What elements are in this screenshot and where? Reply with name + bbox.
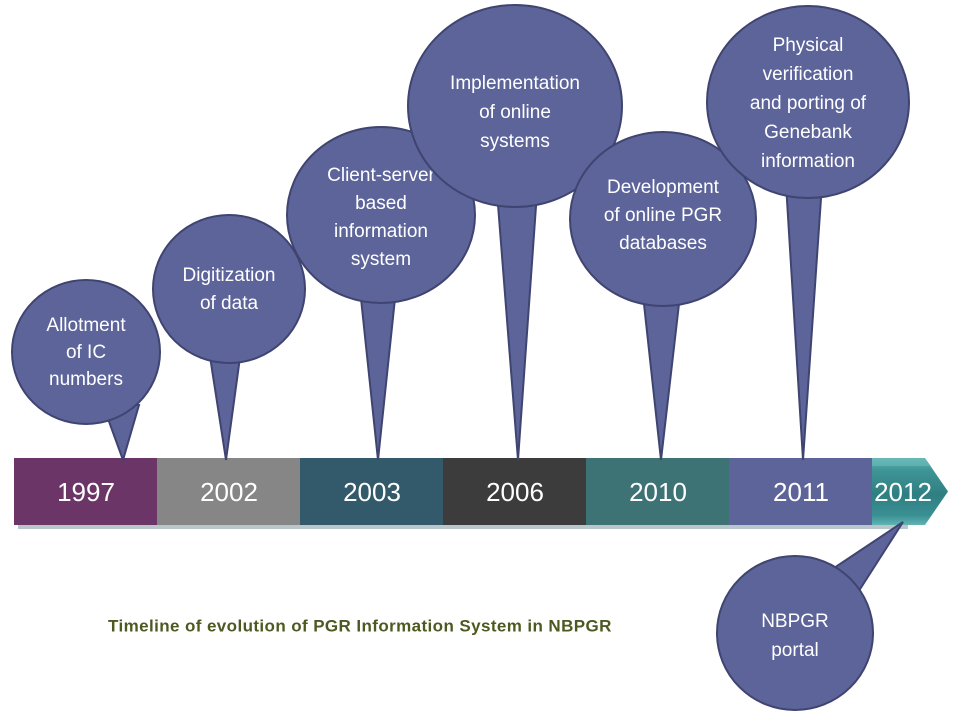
callout-line: Allotment	[46, 315, 126, 336]
timeline-diagram: 1997 2002 2003 2006 2010 2011	[0, 0, 960, 720]
callout-line: Development	[607, 177, 720, 198]
callout-line: NBPGR	[761, 611, 829, 632]
callout-line: Implementation	[450, 73, 580, 94]
segment-year-label: 1997	[57, 477, 115, 507]
callout-nbpgr-portal[interactable]: NBPGR portal	[717, 556, 873, 710]
callout-genebank-porting[interactable]: Physical verification and porting of Gen…	[707, 6, 909, 198]
segment-year-label: 2006	[486, 477, 544, 507]
timeline-bar: 1997 2002 2003 2006 2010 2011	[14, 458, 948, 529]
timeline-segment-2006[interactable]: 2006	[443, 458, 586, 525]
segment-year-label: 2012	[874, 477, 932, 507]
callout-tail-client-server	[360, 289, 396, 460]
callout-line: databases	[619, 233, 707, 254]
callout-bubble	[717, 556, 873, 710]
callout-line: portal	[771, 640, 819, 661]
callout-line: of data	[200, 293, 259, 314]
diagram-canvas: 1997 2002 2003 2006 2010 2011	[0, 0, 960, 720]
callout-line: information	[761, 151, 855, 172]
callout-tail-digitization	[209, 350, 241, 460]
segment-year-label: 2010	[629, 477, 687, 507]
timeline-segment-2011[interactable]: 2011	[729, 458, 872, 525]
callout-line: of online	[479, 102, 551, 123]
timeline-segment-2003[interactable]: 2003	[300, 458, 443, 525]
arrow-head-highlight	[872, 458, 931, 466]
timeline-segment-2012-arrow[interactable]: 2012	[872, 458, 948, 525]
callout-line: Physical	[773, 35, 844, 56]
callout-line: numbers	[49, 369, 123, 390]
segment-year-label: 2002	[200, 477, 258, 507]
callout-bubble	[153, 215, 305, 363]
callout-tail-pgr-databases	[643, 295, 680, 460]
callout-tail-online-systems	[497, 192, 537, 460]
callout-digitization[interactable]: Digitization of data	[153, 215, 305, 363]
callout-line: information	[334, 221, 428, 242]
callout-line: based	[355, 193, 407, 214]
timeline-segment-2002[interactable]: 2002	[157, 458, 300, 525]
callout-tail-genebank	[786, 184, 822, 460]
diagram-caption: Timeline of evolution of PGR Information…	[108, 616, 612, 635]
callout-line: of online PGR	[604, 205, 722, 226]
segment-year-label: 2011	[773, 477, 829, 507]
callout-line: and porting of	[750, 93, 867, 114]
callout-line: verification	[763, 64, 854, 85]
callout-line: Genebank	[764, 122, 852, 143]
callout-line: system	[351, 249, 411, 270]
callout-line: systems	[480, 131, 550, 152]
callout-allotment[interactable]: Allotment of IC numbers	[12, 280, 160, 424]
timeline-segment-1997[interactable]: 1997	[14, 458, 157, 525]
segment-year-label: 2003	[343, 477, 401, 507]
callout-line: Client-server	[327, 165, 435, 186]
callout-line: Digitization	[183, 265, 276, 286]
timeline-segment-2010[interactable]: 2010	[586, 458, 729, 525]
callout-line: of IC	[66, 342, 106, 363]
